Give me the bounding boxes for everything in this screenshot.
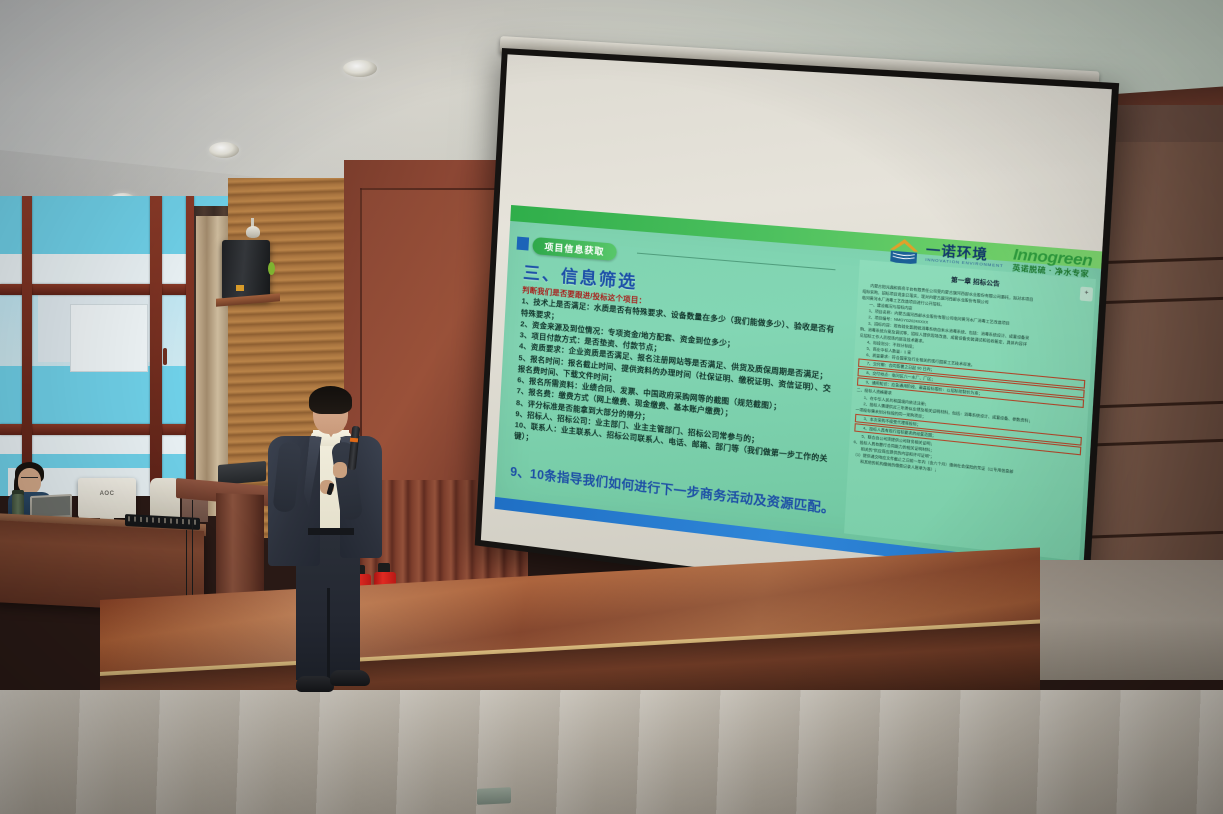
laptop-screen xyxy=(32,496,70,517)
page-button[interactable]: + xyxy=(1080,287,1093,302)
slide-tag: 项目信息获取 xyxy=(532,237,617,261)
presenter-shoe xyxy=(330,670,370,686)
speaker-indicator-icon xyxy=(268,262,275,275)
floor-outlet-plate[interactable] xyxy=(477,787,511,805)
downlight-icon xyxy=(343,60,377,77)
floor-marble-texture xyxy=(0,690,1223,814)
screen-surface: 一诺环境 INNOVATION ENVIRONMENT Innogreen 英诺… xyxy=(481,54,1112,615)
mountain-logo-icon xyxy=(887,236,921,266)
presenter-hair xyxy=(309,386,352,414)
tag-rule xyxy=(637,253,836,271)
tag-square-accent xyxy=(517,237,530,251)
ceiling-camera-icon xyxy=(246,226,260,238)
wall-speaker xyxy=(222,240,270,300)
projected-slide: 一诺环境 INNOVATION ENVIRONMENT Innogreen 英诺… xyxy=(494,205,1102,580)
projection-screen: 一诺环境 INNOVATION ENVIRONMENT Innogreen 英诺… xyxy=(475,48,1119,623)
conference-room-scene: 一诺环境 INNOVATION ENVIRONMENT Innogreen 英诺… xyxy=(0,0,1223,814)
presenter-right-hand xyxy=(333,462,347,478)
slide-body: 判断我们是否要跟进/投标这个项目： 1、技术上是否满足：水质是否有特殊要求、设备… xyxy=(514,284,847,477)
downlight-icon xyxy=(209,142,239,158)
presenter-belt xyxy=(308,528,354,535)
tender-document-panel: + 第一章 招标公告 内蒙古阳光鼎和商务平台有限责任公司受内蒙古旗河西部水业股份… xyxy=(844,260,1096,561)
presenter-shoe xyxy=(296,676,334,692)
speaker-badge-icon xyxy=(236,285,244,291)
glasses-icon xyxy=(21,477,38,482)
monitor-brand-label: AOC xyxy=(100,491,115,497)
window-latch-icon[interactable] xyxy=(163,348,167,365)
desktop-monitor: AOC xyxy=(78,478,136,518)
microphone-band-icon xyxy=(350,438,358,443)
presenter-leg-divide xyxy=(327,588,330,682)
